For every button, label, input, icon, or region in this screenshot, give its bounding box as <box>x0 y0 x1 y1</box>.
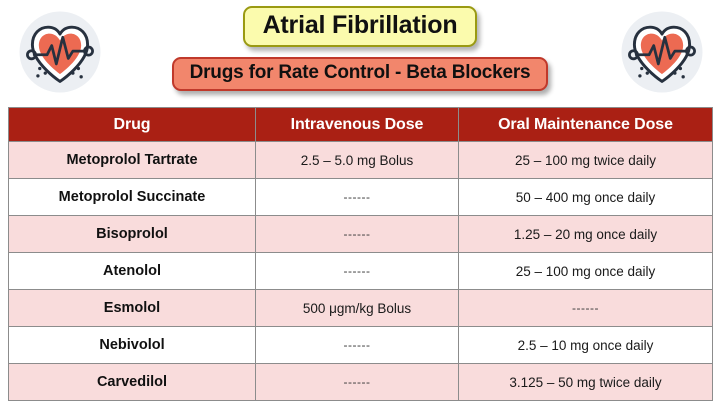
cell-iv-dose: 500 μgm/kg Bolus <box>256 290 459 327</box>
cell-drug: Atenolol <box>9 253 256 290</box>
table-body: Metoprolol Tartrate 2.5 – 5.0 mg Bolus 2… <box>9 142 713 401</box>
column-header-drug: Drug <box>9 108 256 142</box>
cell-iv-dose: ------ <box>256 364 459 401</box>
infographic-header: Atrial Fibrillation Drugs for Rate Contr… <box>0 0 720 105</box>
cell-oral-dose: 2.5 – 10 mg once daily <box>459 327 713 364</box>
table-header-row: Drug Intravenous Dose Oral Maintenance D… <box>9 108 713 142</box>
cell-iv-dose: ------ <box>256 327 459 364</box>
cell-oral-dose: 50 – 400 mg once daily <box>459 179 713 216</box>
af-rate-control-infographic: { "header": { "title": "Atrial Fibrillat… <box>0 0 720 404</box>
page-subtitle: Drugs for Rate Control - Beta Blockers <box>172 57 549 91</box>
column-header-intravenous-dose: Intravenous Dose <box>256 108 459 142</box>
page-title: Atrial Fibrillation <box>243 6 478 47</box>
cell-oral-dose: 25 – 100 mg twice daily <box>459 142 713 179</box>
heart-ecg-icon <box>616 6 708 98</box>
cell-drug: Bisoprolol <box>9 216 256 253</box>
table-row: Metoprolol Succinate ------ 50 – 400 mg … <box>9 179 713 216</box>
cell-drug: Metoprolol Succinate <box>9 179 256 216</box>
table-row: Bisoprolol ------ 1.25 – 20 mg once dail… <box>9 216 713 253</box>
table-row: Esmolol 500 μgm/kg Bolus ------ <box>9 290 713 327</box>
cell-iv-dose: ------ <box>256 216 459 253</box>
cell-drug: Carvedilol <box>9 364 256 401</box>
cell-iv-dose: 2.5 – 5.0 mg Bolus <box>256 142 459 179</box>
cell-oral-dose: 1.25 – 20 mg once daily <box>459 216 713 253</box>
cell-oral-dose: 25 – 100 mg once daily <box>459 253 713 290</box>
table-row: Nebivolol ------ 2.5 – 10 mg once daily <box>9 327 713 364</box>
table-row: Atenolol ------ 25 – 100 mg once daily <box>9 253 713 290</box>
cell-drug: Esmolol <box>9 290 256 327</box>
title-container: Atrial Fibrillation <box>0 6 720 47</box>
cell-oral-dose: 3.125 – 50 mg twice daily <box>459 364 713 401</box>
rate-control-beta-blockers-table: Drug Intravenous Dose Oral Maintenance D… <box>8 107 713 401</box>
table-row: Metoprolol Tartrate 2.5 – 5.0 mg Bolus 2… <box>9 142 713 179</box>
table-row: Carvedilol ------ 3.125 – 50 mg twice da… <box>9 364 713 401</box>
cell-oral-dose: ------ <box>459 290 713 327</box>
cell-drug: Metoprolol Tartrate <box>9 142 256 179</box>
cell-iv-dose: ------ <box>256 179 459 216</box>
cell-drug: Nebivolol <box>9 327 256 364</box>
column-header-oral-maintenance-dose: Oral Maintenance Dose <box>459 108 713 142</box>
table-header: Drug Intravenous Dose Oral Maintenance D… <box>9 108 713 142</box>
cell-iv-dose: ------ <box>256 253 459 290</box>
drug-table-container: Drug Intravenous Dose Oral Maintenance D… <box>8 107 712 401</box>
subtitle-container: Drugs for Rate Control - Beta Blockers <box>0 57 720 91</box>
